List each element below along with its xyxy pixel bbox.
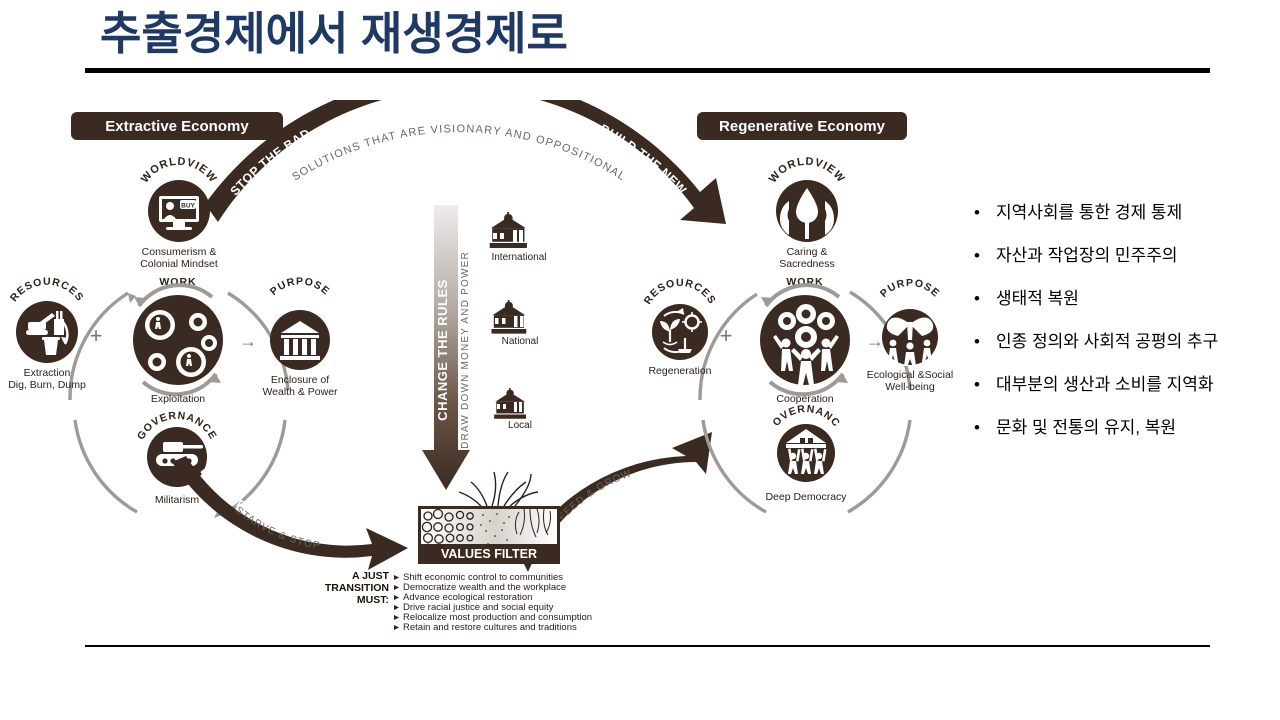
resources-cap-label: RESOURCES — [642, 277, 719, 307]
scale-national-label: National — [502, 336, 539, 347]
values-filter-lead-line3: MUST: — [357, 594, 389, 606]
list-item: • 자산과 작업장의 민주주의 — [966, 236, 1266, 276]
svg-text:PURPOSE: PURPOSE — [268, 275, 332, 297]
change-the-rules-group: CHANGE THE RULES DRAW DOWN MONEY AND POW… — [422, 205, 547, 490]
economy-diagram: Extractive Economy WORLDVIEW — [0, 100, 960, 645]
governance-cap-label: GOVERNANCE — [0, 100, 843, 430]
bullet-marker: • — [966, 279, 996, 319]
svg-text:$: $ — [297, 321, 304, 335]
bullet-text: 자산과 작업장의 민주주의 — [996, 236, 1251, 276]
resources-cap-label: RESOURCES — [8, 276, 86, 304]
bullet-text: 대부분의 생산과 소비를 지역화 — [996, 365, 1251, 405]
regenerative-governance-node: GOVERNANCE — [0, 100, 847, 503]
purpose-desc-line1: Ecological &Social — [867, 369, 953, 381]
governance-desc-line1: Militarism — [155, 494, 200, 506]
list-item: • 문화 및 전통의 유지, 복원 — [966, 408, 1266, 448]
top-arrow-group: STOP THE BAD BUILD THE NEW SOLUTIONS THA… — [205, 100, 726, 224]
change-rules-label: CHANGE THE RULES — [435, 279, 450, 421]
regenerative-plus-symbol: + — [720, 323, 733, 348]
values-filter-items: Shift economic control to communities De… — [394, 572, 592, 633]
divest-arrow-group: DIVEST FROM THEIR POWER STARVE & STOP — [172, 456, 408, 570]
extractive-arrow-symbol: → — [239, 331, 257, 351]
svg-text:RESOURCES: RESOURCES — [8, 276, 86, 304]
scale-international: International — [490, 212, 547, 263]
resources-desc-line1: Regeneration — [648, 365, 711, 377]
scale-national: National — [491, 300, 545, 347]
extractive-purpose-node: PURPOSE $ Enclosure of Wealth & Power — [262, 275, 338, 398]
purpose-desc-line2: Wealth & Power — [262, 386, 338, 398]
values-filter-title: VALUES FILTER — [441, 547, 537, 561]
worldview-desc-line2: Sacredness — [779, 258, 834, 270]
worldview-desc-line1: Consumerism & — [142, 246, 217, 258]
extractive-resources-node: RESOURCES Extraction Dig, Burn, Dump — [8, 276, 86, 391]
list-item: • 지역사회를 통한 경제 통제 — [966, 193, 1266, 233]
bullet-text: 문화 및 전통의 유지, 복원 — [996, 408, 1251, 448]
purpose-cap-label: PURPOSE — [268, 275, 332, 297]
list-item: • 인종 정의와 사회적 공평의 추구 — [966, 322, 1266, 362]
svg-text:RESOURCES: RESOURCES — [642, 277, 719, 307]
title-divider — [85, 68, 1210, 73]
extractive-plus-symbol: + — [90, 323, 103, 348]
extractive-badge: Extractive Economy — [71, 112, 283, 140]
bullet-text: 인종 정의와 사회적 공평의 추구 — [996, 322, 1251, 362]
slide-root: 추출경제에서 재생경제로 • 지역사회를 통한 경제 통제 • 자산과 작업장의… — [0, 0, 1280, 720]
regenerative-worldview-node: WORLDVIEW Caring & Sacredness — [767, 156, 847, 270]
extractive-badge-label: Extractive Economy — [105, 118, 249, 135]
values-filter-lead-line1: A JUST — [352, 570, 390, 582]
scale-international-label: International — [491, 252, 546, 263]
resources-desc-line1: Extraction — [24, 367, 71, 379]
extractive-worldview-node: WORLDVIEW BUY Consumerism & Colonial Min… — [139, 156, 219, 270]
purpose-desc-line2: Well-being — [885, 381, 935, 393]
svg-text:GOVERNANCE: GOVERNANCE — [0, 100, 843, 430]
purpose-desc-line1: Enclosure of — [271, 374, 329, 386]
bank-dollar-icon — [270, 310, 330, 370]
regenerative-badge: Regenerative Economy — [697, 112, 907, 140]
governance-desc-line1: Deep Democracy — [765, 491, 847, 503]
regenerative-work-node: WORK — [760, 276, 850, 405]
regenerative-arrow-symbol: → — [866, 331, 884, 351]
regenerative-badge-label: Regenerative Economy — [719, 118, 886, 135]
list-item: • 대부분의 생산과 소비를 지역화 — [966, 365, 1266, 405]
bullet-marker: • — [966, 322, 996, 362]
top-arrow-end-label: BUILD THE NEW — [597, 122, 689, 198]
svg-text:PURPOSE: PURPOSE — [878, 277, 942, 300]
bullet-marker: • — [966, 408, 996, 448]
resources-desc-line2: Dig, Burn, Dump — [8, 379, 86, 391]
bullet-text: 지역사회를 통한 경제 통제 — [996, 193, 1251, 233]
worldview-desc-line1: Caring & — [787, 246, 828, 258]
extractive-work-node: WORK — [133, 276, 223, 405]
bullet-marker: • — [966, 365, 996, 405]
page-title: 추출경제에서 재생경제로 — [100, 6, 1100, 62]
values-filter-lead-line2: TRANSITION — [325, 582, 389, 594]
bullet-list: • 지역사회를 통한 경제 통제 • 자산과 작업장의 민주주의 • 생태적 복… — [966, 193, 1266, 451]
svg-text:BUILD THE NEW: BUILD THE NEW — [597, 122, 689, 198]
extractive-economy-group: Extractive Economy WORLDVIEW — [8, 112, 338, 518]
bullet-marker: • — [966, 236, 996, 276]
purpose-cap-label: PURPOSE — [878, 277, 942, 300]
values-filter-item: Retain and restore cultures and traditio… — [403, 622, 577, 633]
svg-text:SOLUTIONS THAT ARE VISIONARY A: SOLUTIONS THAT ARE VISIONARY AND OPPOSIT… — [290, 123, 628, 183]
footer-divider — [85, 645, 1210, 647]
grass-icon — [459, 472, 538, 506]
bullet-marker: • — [966, 193, 996, 233]
top-arrow-sub-label: SOLUTIONS THAT ARE VISIONARY AND OPPOSIT… — [290, 123, 628, 183]
regenerative-economy-group: Regenerative Economy WORLDVIEW Caring & — [0, 100, 953, 512]
change-rules-sub-label: DRAW DOWN MONEY AND POWER — [460, 251, 471, 449]
scale-local: Local — [494, 388, 543, 431]
svg-text:BUY: BUY — [181, 203, 195, 210]
worldview-desc-line2: Colonial Mindset — [140, 258, 218, 270]
bullet-text: 생태적 복원 — [996, 279, 1251, 319]
list-item: • 생태적 복원 — [966, 279, 1266, 319]
scale-local-label: Local — [508, 420, 532, 431]
work-desc-line1: Exploitation — [151, 393, 205, 405]
